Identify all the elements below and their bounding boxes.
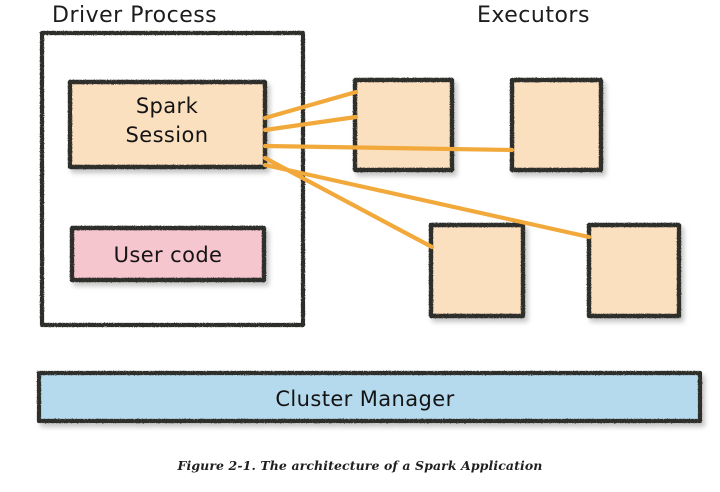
diagram-canvas: Driver Process Executors Spark Session U… [0,0,720,492]
cluster-manager-label: Cluster Manager [275,387,454,411]
executor-3-box[interactable] [431,225,523,316]
executor-2-box[interactable] [512,80,601,170]
executor-3-rect [431,225,523,316]
executor-4-box[interactable] [589,225,679,316]
spark-session-label-line1: Spark [136,94,199,118]
executor-1-rect [355,80,452,170]
figure-caption: Figure 2-1. The architecture of a Spark … [0,458,720,473]
spark-session-label-line2: Session [126,123,209,147]
heading-executors: Executors [477,3,590,28]
orange-link-spark-session-to-executor-4 [265,165,589,237]
user-code-label: User code [114,243,223,267]
executor-1-box[interactable] [355,80,452,170]
executor-4-rect [589,225,679,316]
executor-2-rect [512,80,601,170]
spark-architecture-diagram: Driver Process Executors Spark Session U… [0,0,720,492]
heading-driver-process: Driver Process [52,3,217,28]
